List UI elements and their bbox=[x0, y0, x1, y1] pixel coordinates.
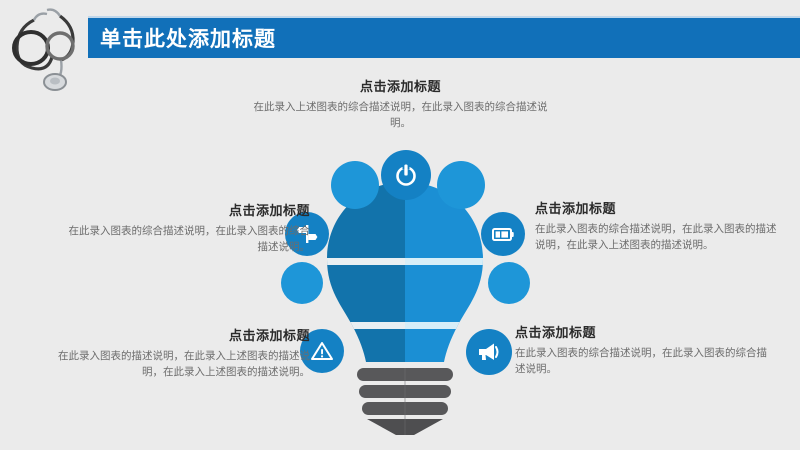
block-body: 在此录入图表的综合描述说明，在此录入图表的综合描述说明。 bbox=[60, 223, 310, 256]
decor-circle-top-right bbox=[437, 161, 485, 209]
text-block-left-middle: 点击添加标题 在此录入图表的综合描述说明，在此录入图表的综合描述说明。 bbox=[60, 200, 310, 256]
slide-title-bar[interactable]: 单击此处添加标题 bbox=[88, 18, 800, 58]
text-block-right-middle: 点击添加标题 在此录入图表的综合描述说明，在此录入图表的描述说明，在此录入上述图… bbox=[535, 198, 785, 254]
page-title: 单击此处添加标题 bbox=[100, 23, 276, 53]
block-heading: 点击添加标题 bbox=[515, 322, 770, 341]
decor-circle-top-left bbox=[331, 161, 379, 209]
block-body: 在此录入上述图表的综合描述说明，在此录入图表的综合描述说明。 bbox=[253, 99, 548, 132]
slide-canvas: 单击此处添加标题 bbox=[0, 0, 800, 450]
block-body: 在此录入图表的综合描述说明，在此录入图表的描述说明，在此录入上述图表的描述说明。 bbox=[535, 221, 785, 254]
text-block-top: 点击添加标题 在此录入上述图表的综合描述说明，在此录入图表的综合描述说明。 bbox=[253, 76, 548, 132]
decor-circle-mid-right bbox=[488, 262, 530, 304]
power-icon[interactable] bbox=[381, 150, 431, 200]
block-heading: 点击添加标题 bbox=[58, 325, 310, 344]
text-block-left-bottom: 点击添加标题 在此录入图表的描述说明，在此录入上述图表的描述说明，在此录入上述图… bbox=[58, 325, 310, 381]
stethoscope-icon bbox=[4, 2, 96, 94]
decor-circle-mid-left bbox=[281, 262, 323, 304]
block-heading: 点击添加标题 bbox=[535, 198, 785, 217]
block-heading: 点击添加标题 bbox=[60, 200, 310, 219]
block-body: 在此录入图表的描述说明，在此录入上述图表的描述说明，在此录入上述图表的描述说明。 bbox=[58, 348, 310, 381]
block-heading: 点击添加标题 bbox=[253, 76, 548, 95]
megaphone-icon[interactable] bbox=[466, 329, 512, 375]
block-body: 在此录入图表的综合描述说明，在此录入图表的综合描述说明。 bbox=[515, 345, 770, 378]
battery-icon[interactable] bbox=[481, 212, 525, 256]
text-block-right-bottom: 点击添加标题 在此录入图表的综合描述说明，在此录入图表的综合描述说明。 bbox=[515, 322, 770, 378]
